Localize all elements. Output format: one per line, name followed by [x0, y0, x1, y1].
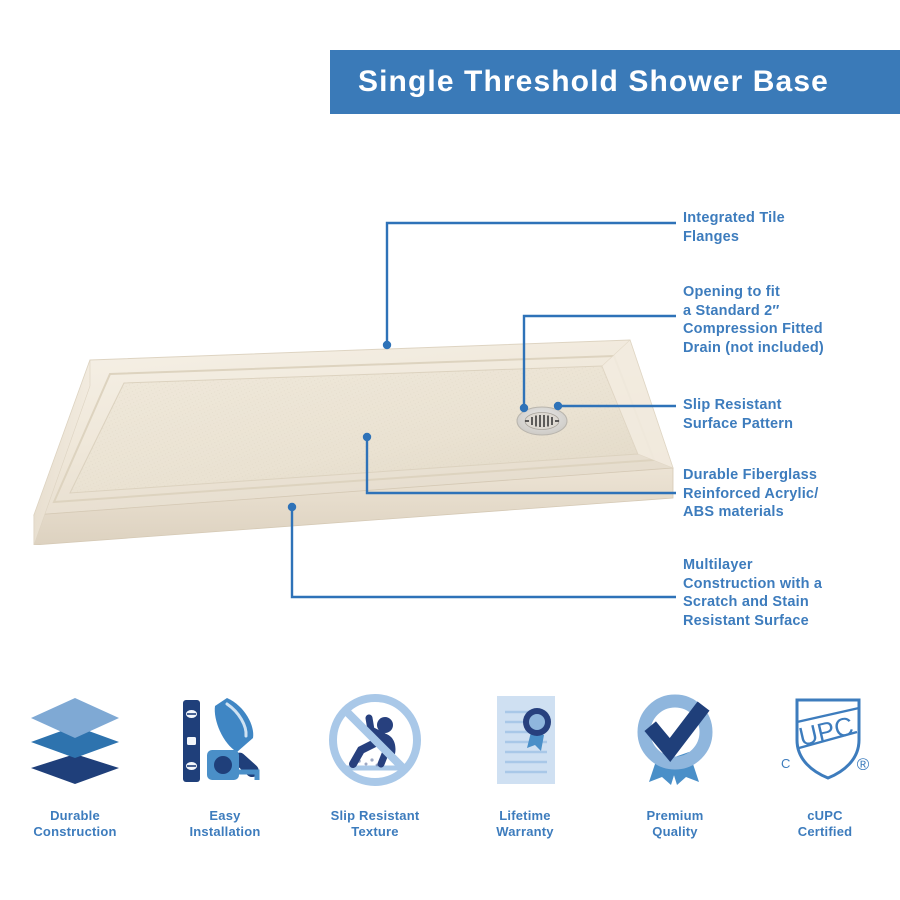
callout-durable-materials: Durable Fiberglass Reinforced Acrylic/ A…	[683, 466, 818, 522]
infographic-canvas: Single Threshold Shower Base	[0, 0, 900, 900]
feature-label: Easy Installation	[189, 808, 260, 840]
tools-icon	[175, 690, 275, 790]
feature-cupc-certified: UPC C ® cUPC Certified	[750, 690, 900, 875]
certificate-icon	[475, 690, 575, 790]
callout-integrated-tile-flanges: Integrated Tile Flanges	[683, 209, 785, 246]
feature-lifetime-warranty: Lifetime Warranty	[450, 690, 600, 875]
feature-label: Premium Quality	[646, 808, 703, 840]
feature-slip-resistant: Slip Resistant Texture	[300, 690, 450, 875]
feature-label: cUPC Certified	[798, 808, 853, 840]
leader-dot-tile-flanges	[383, 341, 391, 349]
upc-shield-text: UPC	[796, 710, 856, 752]
leader-dot-slip-resistant	[554, 402, 562, 410]
feature-durable-construction: Durable Construction	[0, 690, 150, 875]
leader-dot-drain	[520, 404, 528, 412]
feature-strip: Durable Construction	[0, 690, 900, 875]
callout-multilayer-construction: Multilayer Construction with a Scratch a…	[683, 556, 822, 630]
layers-icon	[25, 690, 125, 790]
feature-label: Slip Resistant Texture	[331, 808, 420, 840]
feature-premium-quality: Premium Quality	[600, 690, 750, 875]
feature-label: Durable Construction	[33, 808, 116, 840]
upc-registered-mark: ®	[857, 755, 870, 774]
feature-label: Lifetime Warranty	[496, 808, 553, 840]
callout-slip-resistant-surface: Slip Resistant Surface Pattern	[683, 396, 793, 433]
checkmark-award-icon	[625, 690, 725, 790]
leader-dot-multilayer	[288, 503, 296, 511]
callout-drain-opening: Opening to fit a Standard 2″ Compression…	[683, 283, 824, 357]
leader-dot-materials	[363, 433, 371, 441]
upc-left-mark: C	[781, 756, 790, 771]
no-slip-icon	[325, 690, 425, 790]
upc-shield-icon: UPC C ®	[773, 690, 877, 790]
feature-easy-installation: Easy Installation	[150, 690, 300, 875]
